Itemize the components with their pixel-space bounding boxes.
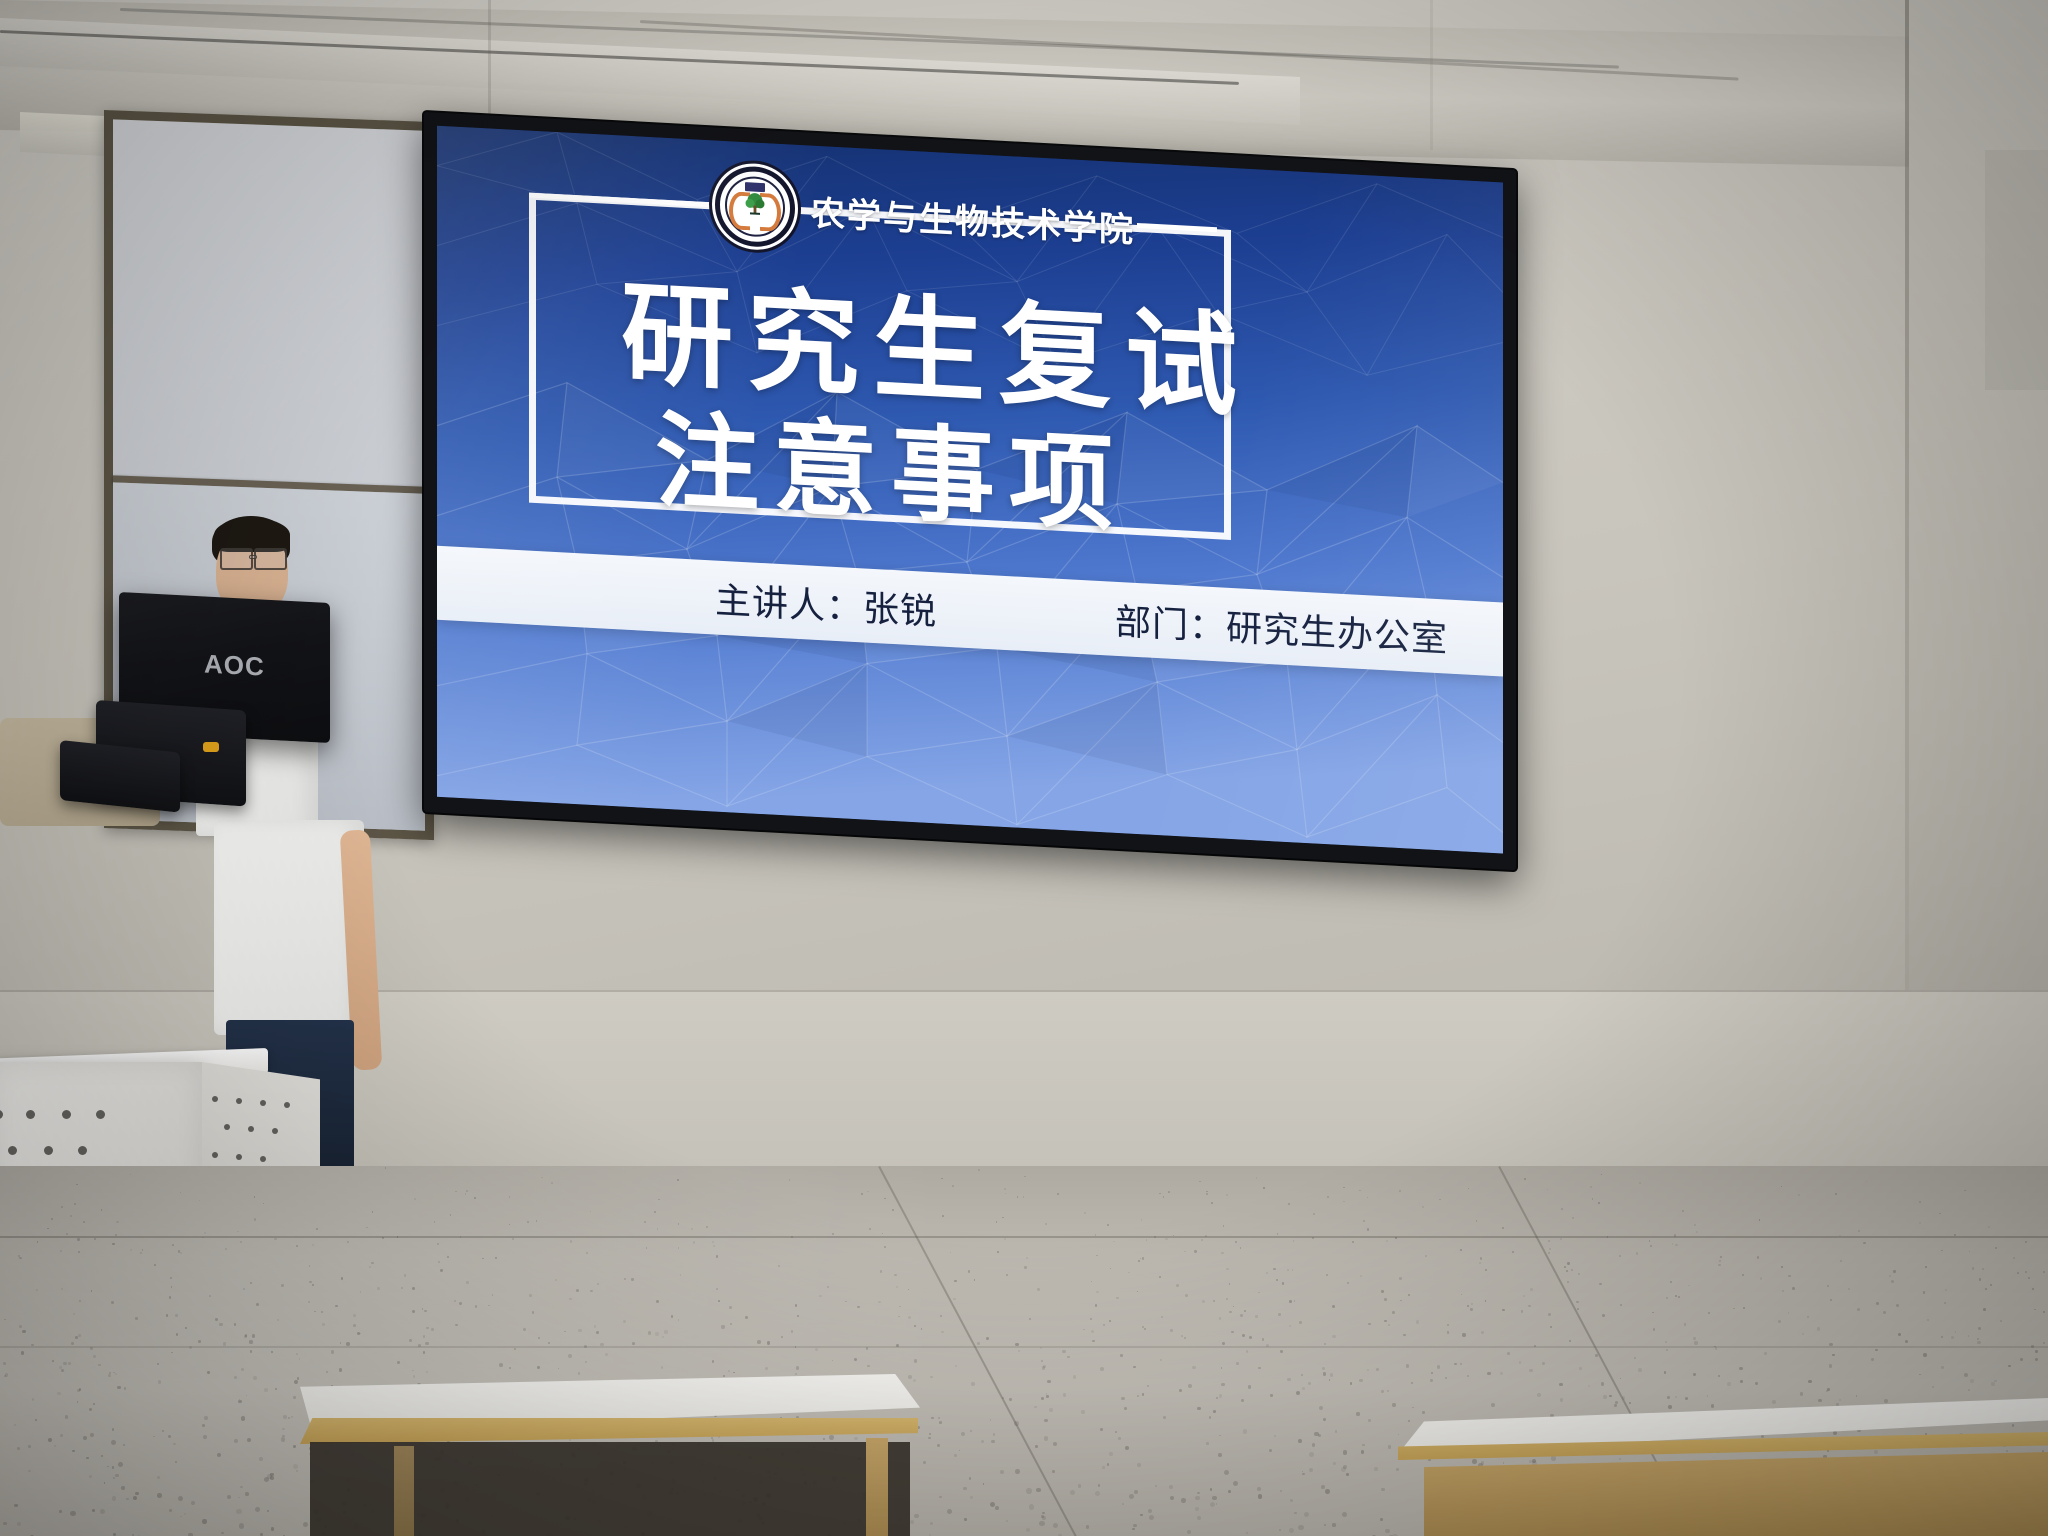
floor-speck: [1684, 1323, 1687, 1326]
floor-speck: [1039, 1521, 1045, 1527]
floor-speck: [1084, 1212, 1086, 1214]
floor-speck: [237, 1231, 239, 1233]
floor-speck: [896, 1286, 898, 1288]
floor-speck: [1332, 1523, 1335, 1526]
floor-speck: [240, 1486, 243, 1489]
floor-speck: [372, 1211, 374, 1213]
floor-speck: [17, 1522, 21, 1526]
floor-speck: [1666, 1349, 1668, 1351]
floor-speck: [1006, 1520, 1008, 1522]
floor-speck: [1523, 1295, 1525, 1297]
floor-speck: [14, 1504, 17, 1507]
floor-speck: [63, 1362, 66, 1365]
floor-speck: [1138, 1260, 1140, 1262]
floor-speck: [2017, 1272, 2019, 1274]
floor-speck: [1460, 1363, 1462, 1365]
floor-speck: [930, 1522, 933, 1525]
student-desk-left: [300, 1374, 920, 1536]
floor-speck: [1636, 1252, 1638, 1254]
floor-speck: [983, 1483, 985, 1485]
floor-speck: [243, 1288, 245, 1290]
floor-speck: [1425, 1255, 1427, 1257]
floor-speck: [1519, 1361, 1522, 1364]
floor-speck: [941, 1331, 943, 1333]
floor-speck: [202, 1519, 206, 1523]
floor-speck: [1026, 1257, 1028, 1259]
floor-speck: [940, 1315, 942, 1317]
floor-speck: [1808, 1380, 1811, 1383]
floor-speck: [1670, 1281, 1673, 1284]
floor-speck: [1015, 1469, 1020, 1474]
floor-speck: [1923, 1228, 1925, 1230]
floor-speck: [646, 1247, 648, 1249]
floor-speck: [115, 1373, 117, 1375]
floor-speck: [271, 1351, 273, 1353]
floor-speck: [1120, 1354, 1123, 1357]
person-glasses-bridge: [249, 555, 257, 559]
monitor-cable-clamp: [60, 740, 180, 813]
floor-speck: [397, 1361, 400, 1364]
floor-speck: [664, 1330, 667, 1333]
floor-speck: [256, 1303, 259, 1306]
floor-speck: [112, 1496, 116, 1500]
floor-speck: [954, 1454, 957, 1457]
floor-speck: [158, 1380, 161, 1383]
floor-speck: [981, 1440, 984, 1443]
floor-speck: [1125, 1446, 1129, 1450]
floor-speck: [1140, 1258, 1142, 1260]
floor-speck: [1693, 1337, 1697, 1341]
floor-speck: [1343, 1465, 1347, 1469]
floor-speck: [250, 1282, 252, 1284]
floor-speck: [1046, 1395, 1049, 1398]
floor-speck: [969, 1477, 971, 1479]
floor-speck: [1964, 1190, 1966, 1192]
floor-speck: [1840, 1260, 1842, 1262]
floor-speck: [523, 1328, 526, 1331]
floor-speck: [1325, 1489, 1330, 1494]
floor-speck: [47, 1228, 49, 1230]
floor-speck: [293, 1445, 296, 1448]
floor-speck: [1733, 1308, 1735, 1310]
floor-speck: [1639, 1182, 1641, 1184]
floor-speck: [781, 1336, 783, 1338]
floor-speck: [1067, 1356, 1069, 1358]
floor-speck: [2020, 1358, 2023, 1361]
floor-speck: [1381, 1390, 1385, 1394]
floor-speck: [1308, 1382, 1311, 1385]
floor-speck: [1209, 1416, 1212, 1419]
floor-speck: [162, 1430, 164, 1432]
floor-speck: [1664, 1371, 1667, 1374]
floor-speck: [73, 1313, 75, 1315]
floor-speck: [66, 1233, 68, 1235]
floor-speck: [175, 1461, 177, 1463]
floor-speck: [931, 1417, 934, 1420]
floor-speck: [970, 1496, 973, 1499]
floor-speck: [209, 1295, 211, 1297]
floor-speck: [532, 1311, 535, 1314]
floor-speck: [89, 1408, 92, 1411]
floor-speck: [1827, 1388, 1830, 1391]
floor-speck: [1034, 1406, 1037, 1409]
floor-speck: [1578, 1273, 1580, 1275]
floor-speck: [1298, 1525, 1304, 1531]
floor-speck: [1991, 1382, 1994, 1385]
floor-speck: [1188, 1384, 1192, 1388]
floor-speck: [1941, 1366, 1944, 1369]
floor-speck: [459, 1302, 462, 1305]
floor-speck: [175, 1314, 178, 1317]
floor-speck: [1262, 1338, 1264, 1340]
floor-speck: [1479, 1262, 1481, 1264]
floor-speck: [1461, 1294, 1463, 1296]
floor-speck: [1727, 1382, 1731, 1386]
floor-speck: [189, 1346, 192, 1349]
floor-speck: [241, 1368, 244, 1371]
floor-speck: [1876, 1302, 1879, 1305]
floor-speck: [1092, 1340, 1095, 1343]
floor-speck: [126, 1498, 129, 1501]
floor-speck: [1063, 1393, 1066, 1396]
floor-speck: [1759, 1219, 1761, 1221]
floor-speck: [1968, 1335, 1970, 1337]
floor-speck: [130, 1174, 132, 1176]
floor-speck: [1577, 1308, 1579, 1310]
floor-speck: [718, 1300, 720, 1302]
floor-speck: [1893, 1270, 1895, 1272]
floor-speck: [1764, 1352, 1767, 1355]
floor-speck: [296, 1353, 298, 1355]
floor-speck: [1500, 1372, 1503, 1375]
floor-speck: [488, 1305, 490, 1307]
floor-speck: [404, 1274, 406, 1276]
led-presentation-screen[interactable]: 农学与生物技术学院 研究生复试 注意事项 主讲人：张锐 部门：研究生办公室: [424, 112, 1516, 870]
floor-speck: [19, 1257, 21, 1259]
floor-speck: [968, 1270, 971, 1273]
floor-speck: [778, 1265, 780, 1267]
floor-speck: [1168, 1191, 1170, 1193]
floor-speck: [880, 1270, 883, 1273]
floor-speck: [1817, 1327, 1820, 1330]
floor-speck: [1181, 1498, 1186, 1503]
floor-speck: [584, 1345, 587, 1348]
floor-speck: [1579, 1367, 1583, 1371]
floor-speck: [1560, 1238, 1562, 1240]
floor-speck: [1005, 1193, 1007, 1195]
floor-speck: [52, 1360, 54, 1362]
floor-speck: [270, 1476, 273, 1479]
floor-speck: [1739, 1367, 1743, 1371]
floor-speck: [1564, 1266, 1566, 1268]
floor-speck: [1650, 1245, 1652, 1247]
floor-speck: [1454, 1363, 1456, 1365]
screen-display: 农学与生物技术学院 研究生复试 注意事项 主讲人：张锐 部门：研究生办公室: [437, 126, 1503, 854]
floor-speck: [346, 1342, 350, 1346]
floor-speck: [1321, 1485, 1325, 1489]
floor-speck: [2043, 1342, 2045, 1344]
floor-speck: [1258, 1367, 1260, 1369]
floor-speck: [207, 1371, 210, 1374]
floor-speck: [14, 1424, 17, 1427]
floor-speck: [1332, 1335, 1335, 1338]
floor-speck: [282, 1428, 284, 1430]
floor-speck: [1718, 1375, 1720, 1377]
floor-speck: [1411, 1382, 1413, 1384]
floor-speck: [1347, 1282, 1349, 1284]
floor-speck: [1229, 1311, 1232, 1314]
floor-speck: [1363, 1220, 1365, 1222]
floor-speck: [1309, 1468, 1313, 1472]
floor-speck: [1392, 1403, 1395, 1406]
floor-speck: [1969, 1251, 1971, 1253]
floor-speck: [204, 1232, 206, 1234]
floor-speck: [1035, 1445, 1038, 1448]
floor-tile-line-4: [0, 1346, 2048, 1348]
floor-speck: [1672, 1243, 1674, 1245]
floor-speck: [1319, 1406, 1323, 1410]
floor-speck: [713, 1245, 715, 1247]
floor-speck: [1361, 1450, 1365, 1454]
floor-speck: [1970, 1379, 1974, 1383]
floor-speck: [227, 1495, 231, 1499]
floor-speck: [1226, 1298, 1228, 1300]
floor-speck: [1781, 1266, 1783, 1268]
floor-speck: [624, 1278, 626, 1280]
floor-speck: [454, 1300, 456, 1302]
floor-speck: [631, 1278, 633, 1280]
floor-speck: [1107, 1463, 1109, 1465]
floor-speck: [124, 1387, 126, 1389]
floor-speck: [1047, 1380, 1050, 1383]
floor-speck: [1091, 1281, 1093, 1283]
floor-speck: [385, 1167, 387, 1169]
floor-speck: [1547, 1189, 1549, 1191]
floor-speck: [239, 1523, 245, 1529]
floor-speck: [21, 1351, 25, 1355]
floor-speck: [111, 1440, 116, 1445]
floor-speck: [1856, 1395, 1858, 1397]
floor-speck: [1388, 1324, 1390, 1326]
floor-speck: [1707, 1395, 1709, 1397]
floor-speck: [1219, 1435, 1221, 1437]
floor-speck: [1964, 1373, 1968, 1377]
floor-speck: [466, 1190, 468, 1192]
floor-speck: [1665, 1341, 1667, 1343]
desk-left-edge: [300, 1418, 918, 1444]
floor-speck: [31, 1344, 33, 1346]
floor-speck: [730, 1323, 732, 1325]
floor-speck: [234, 1439, 238, 1443]
floor-speck: [964, 1518, 967, 1521]
floor-speck: [815, 1348, 818, 1351]
floor-speck: [1142, 1257, 1145, 1260]
floor-speck: [995, 1506, 999, 1510]
floor-speck: [321, 1311, 323, 1313]
floor-speck: [1829, 1343, 1833, 1347]
floor-speck: [1147, 1385, 1149, 1387]
floor-speck: [1149, 1515, 1154, 1520]
floor-speck: [296, 1470, 298, 1472]
floor-speck: [198, 1340, 201, 1343]
floor-speck: [71, 1342, 74, 1345]
floor-speck: [929, 1433, 931, 1435]
floor-speck: [65, 1415, 68, 1418]
floor-speck: [78, 1251, 80, 1253]
floor-speck: [409, 1339, 412, 1342]
floor-speck: [2031, 1345, 2034, 1348]
floor-speck: [171, 1352, 173, 1354]
floor-speck: [1476, 1220, 1478, 1222]
floor-speck: [1977, 1338, 1979, 1340]
floor-speck: [1898, 1333, 1901, 1336]
floor-speck: [1226, 1268, 1229, 1271]
floor-speck: [733, 1372, 735, 1374]
floor-speck: [425, 1342, 428, 1345]
floor-speck: [1213, 1300, 1215, 1302]
floor-speck: [921, 1328, 923, 1330]
floor-speck: [76, 1184, 78, 1186]
floor-speck: [1091, 1330, 1094, 1333]
floor-speck: [1335, 1430, 1338, 1433]
floor-speck: [1919, 1222, 1921, 1224]
floor-speck: [61, 1288, 63, 1290]
floor-speck: [51, 1218, 53, 1220]
wall-seam-vertical-1: [488, 0, 491, 120]
floor-speck: [693, 1241, 695, 1243]
floor-speck: [1000, 1470, 1004, 1474]
floor-speck: [671, 1315, 674, 1318]
floor-speck: [1095, 1304, 1098, 1307]
floor-speck: [655, 1332, 658, 1335]
floor-speck: [1376, 1368, 1379, 1371]
floor-speck: [130, 1249, 132, 1251]
floor-speck: [37, 1241, 39, 1243]
floor-speck: [1470, 1308, 1472, 1310]
floor-speck: [60, 1250, 62, 1252]
floor-speck: [89, 1475, 91, 1477]
floor-speck: [914, 1325, 916, 1327]
floor-speck: [2035, 1350, 2038, 1353]
floor-speck: [1116, 1297, 1119, 1300]
floor-speck: [1675, 1244, 1677, 1246]
floor-speck: [971, 1382, 975, 1386]
floor-speck: [1995, 1247, 1997, 1249]
floor-speck: [142, 1249, 144, 1251]
floor-speck: [1017, 1196, 1019, 1198]
floor-speck: [382, 1237, 384, 1239]
floor-speck: [437, 1243, 439, 1245]
floor-speck: [90, 1433, 94, 1437]
floor-speck: [1941, 1336, 1943, 1338]
floor-speck: [706, 1226, 708, 1228]
floor-speck: [1146, 1239, 1148, 1241]
floor-speck: [234, 1376, 237, 1379]
floor-speck: [854, 1358, 857, 1361]
slide-footer-bar: 主讲人：张锐 部门：研究生办公室: [437, 546, 1503, 677]
floor-speck: [94, 1238, 96, 1240]
floor-speck: [1221, 1367, 1223, 1369]
floor-speck: [1107, 1224, 1109, 1226]
floor-speck: [937, 1444, 940, 1447]
floor-speck: [939, 1496, 942, 1499]
floor-speck: [466, 1281, 469, 1284]
floor-speck: [1100, 1428, 1103, 1431]
floor-speck: [1863, 1242, 1865, 1244]
floor-speck: [1988, 1226, 1990, 1228]
floor-speck: [1326, 1274, 1328, 1276]
floor-speck: [869, 1228, 871, 1230]
floor-speck: [1118, 1437, 1120, 1439]
floor-speck: [558, 1368, 560, 1370]
floor-speck: [1015, 1343, 1018, 1346]
floor-speck: [1298, 1439, 1302, 1443]
floor-speck: [1832, 1354, 1834, 1356]
floor-speck: [963, 1487, 966, 1490]
floor-speck: [529, 1294, 532, 1297]
floor-speck: [19, 1325, 21, 1327]
right-wall-patch: [1985, 150, 2048, 390]
floor-speck: [1277, 1233, 1279, 1235]
floor-speck: [93, 1355, 96, 1358]
floor-speck: [1571, 1269, 1573, 1271]
floor-speck: [202, 1424, 205, 1427]
floor-speck: [2013, 1257, 2015, 1259]
desk-left-leg: [866, 1438, 888, 1536]
floor-speck: [1165, 1238, 1167, 1240]
floor-speck: [91, 1290, 93, 1292]
floor-speck: [1542, 1362, 1546, 1366]
floor-speck: [512, 1238, 514, 1240]
floor-speck: [113, 1477, 115, 1479]
floor-speck: [1350, 1382, 1353, 1385]
floor-speck: [414, 1198, 416, 1200]
floor-speck: [1385, 1529, 1389, 1533]
floor-speck: [1368, 1323, 1371, 1326]
floor-speck: [253, 1376, 257, 1380]
floor-speck: [1529, 1369, 1533, 1373]
floor-speck: [1129, 1494, 1134, 1499]
floor-speck: [1185, 1294, 1188, 1297]
floor-speck: [1083, 1329, 1085, 1331]
floor-speck: [857, 1306, 860, 1309]
floor-speck: [997, 1251, 999, 1253]
floor-speck: [171, 1286, 173, 1288]
floor-speck: [1312, 1443, 1315, 1446]
floor-speck: [1927, 1319, 1929, 1321]
floor-speck: [1109, 1452, 1113, 1456]
floor-speck: [353, 1324, 356, 1327]
floor-speck: [1134, 1490, 1138, 1494]
floor-speck: [1302, 1387, 1305, 1390]
floor-speck: [1923, 1353, 1927, 1357]
floor-speck: [1029, 1318, 1031, 1320]
floor-speck: [594, 1325, 597, 1328]
footer-department: 部门：研究生办公室: [1115, 593, 1448, 663]
floor-speck: [1240, 1247, 1242, 1249]
floor-speck: [1024, 1266, 1027, 1269]
floor-speck: [1289, 1325, 1291, 1327]
floor-speck: [1256, 1177, 1258, 1179]
floor-speck: [590, 1211, 592, 1213]
floor-speck: [1288, 1203, 1290, 1205]
floor-speck: [1197, 1516, 1202, 1521]
floor-speck: [1279, 1529, 1281, 1531]
floor-speck: [658, 1199, 660, 1201]
floor-speck: [1086, 1525, 1089, 1528]
floor-speck: [537, 1366, 540, 1369]
floor-speck: [72, 1450, 74, 1452]
